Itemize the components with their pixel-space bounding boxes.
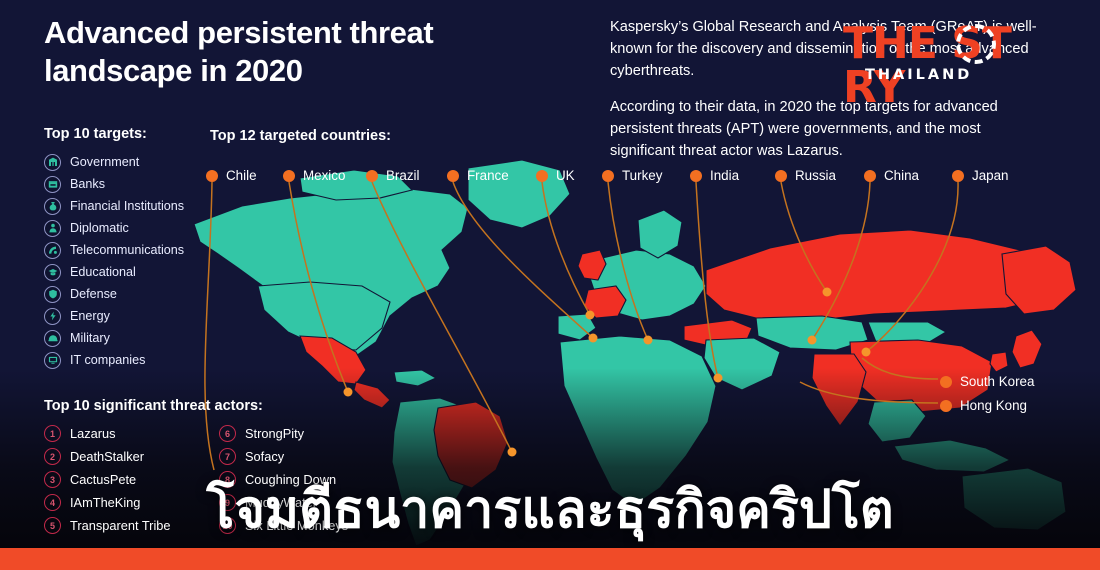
watermark-dashed-circle-icon [956, 24, 996, 64]
country-pin-label: Japan [972, 168, 1008, 183]
country-pin-dot-icon [536, 170, 548, 182]
threat-actor-name: Sofacy [245, 449, 284, 464]
target-item: Military [44, 327, 254, 349]
target-item: Defense [44, 283, 254, 305]
landmass-korea [990, 352, 1008, 372]
country-pin-dot-icon [864, 170, 876, 182]
watermark-subtitle: THAILAND [865, 67, 972, 83]
threat-actor-rank-badge: 7 [219, 448, 236, 465]
threat-actor-item: 1Lazarus [44, 422, 199, 445]
country-pin: Japan [952, 168, 1008, 183]
threat-actors-heading: Top 10 significant threat actors: [44, 398, 374, 414]
target-item-label: Financial Institutions [70, 199, 184, 213]
target-item-label: Telecommunications [70, 243, 184, 257]
landmass-caribbean [394, 370, 436, 386]
country-pin-dot-icon [690, 170, 702, 182]
country-pin-dot-icon [940, 376, 952, 388]
target-item-label: Banks [70, 177, 105, 191]
target-item: Financial Institutions [44, 195, 254, 217]
country-pin-label: Russia [795, 168, 836, 183]
money-bag-icon [44, 198, 61, 215]
lightning-bolt-icon [44, 308, 61, 325]
country-pin-label: China [884, 168, 919, 183]
target-item-label: IT companies [70, 353, 145, 367]
threat-actor-rank-badge: 2 [44, 448, 61, 465]
country-pin-label: Brazil [386, 168, 419, 183]
overlay-caption: โจมตีธนาคารและธุรกิจคริปโต [0, 484, 1100, 536]
target-item-label: Energy [70, 309, 110, 323]
target-item-label: Military [70, 331, 110, 345]
threat-actor-name: Lazarus [70, 426, 116, 441]
country-pin-label: Chile [226, 168, 257, 183]
country-pin-dot-icon [206, 170, 218, 182]
top-targets-list: GovernmentBanksFinancial InstitutionsDip… [44, 151, 254, 371]
page-title: Advanced persistent threat landscape in … [44, 14, 564, 90]
person-tie-icon [44, 220, 61, 237]
country-pin-dot-icon [366, 170, 378, 182]
shield-icon [44, 286, 61, 303]
bank-icon [44, 176, 61, 193]
country-pin-dot-icon [283, 170, 295, 182]
landmass-southeast-asia [868, 400, 926, 442]
target-item-label: Government [70, 155, 139, 169]
country-pin-label: Hong Kong [960, 398, 1027, 413]
bottom-accent-bar [0, 548, 1100, 570]
satellite-dish-icon [44, 242, 61, 259]
watermark: THE ST RY THAILAND [843, 22, 1058, 88]
threat-actor-name: StrongPity [245, 426, 304, 441]
graduation-cap-icon [44, 264, 61, 281]
landmass-india [812, 354, 866, 426]
country-pin: China [864, 168, 919, 183]
target-item-label: Educational [70, 265, 136, 279]
helmet-icon [44, 330, 61, 347]
country-pin-label: Turkey [622, 168, 662, 183]
threat-actor-item: 7Sofacy [219, 445, 374, 468]
target-item: IT companies [44, 349, 254, 371]
country-pin: UK [536, 168, 575, 183]
threat-actor-rank-badge: 1 [44, 425, 61, 442]
infographic-canvas: Advanced persistent threat landscape in … [0, 0, 1100, 570]
target-item-label: Defense [70, 287, 117, 301]
bank-building-icon [44, 154, 61, 171]
country-pin-label: UK [556, 168, 575, 183]
country-pin: France [447, 168, 509, 183]
landmass-indonesia [894, 440, 1010, 472]
country-pin-label: France [467, 168, 509, 183]
landmass-scandinavia [638, 210, 682, 258]
landmass-middle-east [704, 338, 780, 390]
top-targets-section: Top 10 targets: GovernmentBanksFinancial… [44, 126, 254, 371]
country-pin-dot-icon [940, 400, 952, 412]
country-pin-dot-icon [447, 170, 459, 182]
country-pin: Chile [206, 168, 257, 183]
watermark-text: THE ST RY [843, 22, 1058, 110]
target-item: Diplomatic [44, 217, 254, 239]
country-pin: Turkey [602, 168, 662, 183]
country-pin: South Korea [940, 374, 1034, 389]
monitor-icon [44, 352, 61, 369]
threat-actor-item: 6StrongPity [219, 422, 374, 445]
country-pin-dot-icon [952, 170, 964, 182]
landmass-japan [1012, 330, 1042, 368]
country-pin-label: India [710, 168, 739, 183]
target-item: Energy [44, 305, 254, 327]
threat-actor-rank-badge: 6 [219, 425, 236, 442]
country-pin-dot-icon [775, 170, 787, 182]
landmass-iberia [558, 314, 596, 340]
threat-actor-item: 2DeathStalker [44, 445, 199, 468]
target-item-label: Diplomatic [70, 221, 129, 235]
country-pin: Mexico [283, 168, 345, 183]
target-item: Telecommunications [44, 239, 254, 261]
landmass-france [584, 286, 626, 318]
country-pin-dot-icon [602, 170, 614, 182]
country-pin: Brazil [366, 168, 419, 183]
target-item: Educational [44, 261, 254, 283]
country-pin: Russia [775, 168, 836, 183]
country-pin-label: Mexico [303, 168, 345, 183]
top-countries-heading: Top 12 targeted countries: [210, 128, 391, 144]
country-pin-label: South Korea [960, 374, 1034, 389]
country-pin: India [690, 168, 739, 183]
threat-actor-name: DeathStalker [70, 449, 144, 464]
country-pin: Hong Kong [940, 398, 1027, 413]
